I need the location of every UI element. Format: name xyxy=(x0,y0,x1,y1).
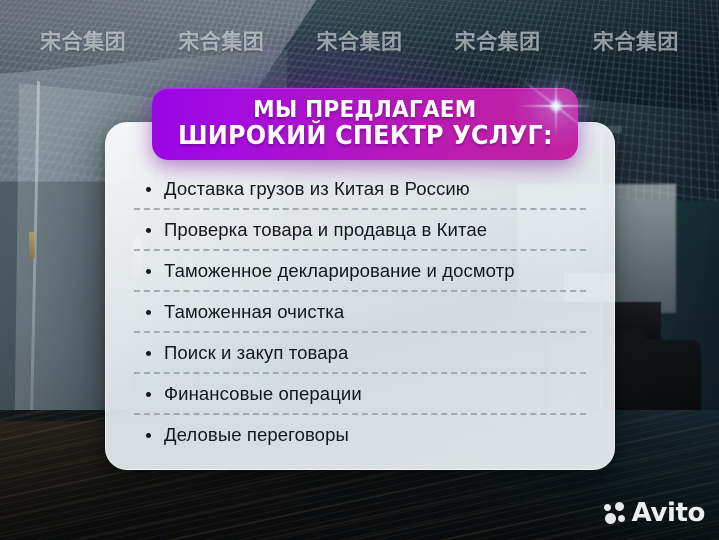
list-divider xyxy=(134,208,586,210)
avito-logo-icon xyxy=(604,502,626,524)
list-item: Финансовые операции xyxy=(130,376,590,411)
lens-flare-core xyxy=(549,99,563,113)
service-label: Таможенная очистка xyxy=(164,301,344,323)
services-list: Доставка грузов из Китая в Россию Провер… xyxy=(130,171,590,452)
bullet-icon xyxy=(146,392,151,397)
list-item: Таможенная очистка xyxy=(130,294,590,329)
avito-wordmark: Avito xyxy=(632,500,705,526)
list-divider xyxy=(134,413,586,415)
service-label: Финансовые операции xyxy=(164,383,362,405)
avito-watermark: Avito xyxy=(604,500,705,526)
bullet-icon xyxy=(146,187,151,192)
list-divider xyxy=(134,290,586,292)
headline-line-2: широкий спектр услуг: xyxy=(178,123,553,149)
list-divider xyxy=(134,331,586,333)
list-item: Таможенное декларирование и досмотр xyxy=(130,253,590,288)
list-item: Поиск и закуп товара xyxy=(130,335,590,370)
service-label: Доставка грузов из Китая в Россию xyxy=(164,178,470,200)
bullet-icon xyxy=(146,269,151,274)
advertisement-image: 宋合集团 宋合集团 宋合集团 宋合集团 宋合集团 Доставка грузов… xyxy=(0,0,719,540)
bullet-icon xyxy=(146,433,151,438)
bullet-icon xyxy=(146,228,151,233)
list-divider xyxy=(134,249,586,251)
headline-line-1: Мы предлагаем xyxy=(253,99,476,122)
services-card-body: Доставка грузов из Китая в Россию Провер… xyxy=(106,171,614,455)
list-item: Проверка товара и продавца в Китае xyxy=(130,212,590,247)
list-divider xyxy=(134,372,586,374)
headline-banner: Мы предлагаем широкий спектр услуг: xyxy=(152,88,578,160)
bullet-icon xyxy=(146,351,151,356)
service-label: Таможенное декларирование и досмотр xyxy=(164,260,515,282)
list-item: Деловые переговоры xyxy=(130,417,590,452)
bullet-icon xyxy=(146,310,151,315)
service-label: Деловые переговоры xyxy=(164,424,349,446)
service-label: Проверка товара и продавца в Китае xyxy=(164,219,487,241)
list-item: Доставка грузов из Китая в Россию xyxy=(130,171,590,206)
services-card: Доставка грузов из Китая в Россию Провер… xyxy=(105,122,615,470)
service-label: Поиск и закуп товара xyxy=(164,342,348,364)
